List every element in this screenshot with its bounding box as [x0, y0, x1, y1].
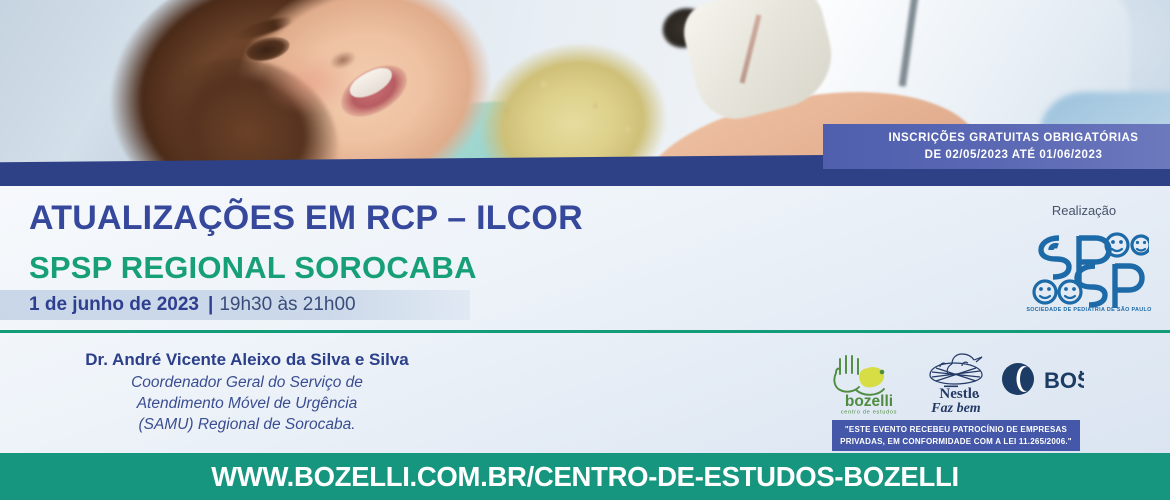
date-separator: |	[208, 294, 213, 316]
registration-ribbon: INSCRIÇÕES GRATUITAS OBRIGATÓRIAS DE 02/…	[823, 124, 1170, 169]
svg-text:Nestle: Nestle	[939, 386, 978, 402]
event-date-bar: 1 de junho de 2023 | 19h30 às 21h00	[0, 290, 470, 320]
divider-rule	[0, 330, 1170, 333]
organizer-label: Realização	[1019, 203, 1149, 218]
svg-text:Faz bem: Faz bem	[930, 401, 981, 416]
legal-line-2: PRIVADAS, EM CONFORMIDADE COM A LEI 11.2…	[840, 436, 1072, 448]
speaker-role-line-3: (SAMU) Regional de Sorocaba.	[12, 414, 482, 435]
spsp-caption: SOCIEDADE DE PEDIATRIA DE SÃO PAULO	[1019, 307, 1159, 313]
nestle-logo: Nestle Faz bem	[918, 348, 1000, 416]
svg-text:BOS: BOS	[1044, 368, 1084, 393]
speaker-block: Dr. André Vicente Aleixo da Silva e Silv…	[12, 348, 482, 435]
event-banner: INSCRIÇÕES GRATUITAS OBRIGATÓRIAS DE 02/…	[0, 0, 1170, 500]
bos-logo: BOS	[1000, 361, 1084, 397]
page-subtitle: SPSP REGIONAL SOROCABA	[29, 250, 477, 286]
legal-notice: "ESTE EVENTO RECEBEU PATROCÍNIO DE EMPRE…	[832, 420, 1080, 451]
svg-text:bozelli: bozelli	[845, 393, 893, 410]
website-url-bar[interactable]: WWW.BOZELLI.COM.BR/CENTRO-DE-ESTUDOS-BOZ…	[0, 453, 1170, 500]
spsp-logo	[1029, 224, 1149, 314]
legal-line-1: "ESTE EVENTO RECEBEU PATROCÍNIO DE EMPRE…	[845, 424, 1067, 436]
page-title: ATUALIZAÇÕES EM RCP – ILCOR	[29, 199, 583, 238]
website-url[interactable]: WWW.BOZELLI.COM.BR/CENTRO-DE-ESTUDOS-BOZ…	[211, 461, 959, 493]
speaker-name: Dr. André Vicente Aleixo da Silva e Silv…	[12, 348, 482, 372]
speaker-role-line-2: Atendimento Móvel de Urgência	[12, 393, 482, 414]
svg-text:centro de estudos: centro de estudos	[841, 410, 897, 416]
speaker-role-line-1: Coordenador Geral do Serviço de	[12, 372, 482, 393]
ribbon-line-1: INSCRIÇÕES GRATUITAS OBRIGATÓRIAS	[888, 130, 1138, 147]
bozelli-logo: bozelli centro de estudos	[826, 348, 912, 416]
event-date: 1 de junho de 2023	[29, 294, 199, 316]
event-time: 19h30 às 21h00	[219, 294, 355, 316]
ribbon-line-2: DE 02/05/2023 ATÉ 01/06/2023	[925, 147, 1103, 164]
